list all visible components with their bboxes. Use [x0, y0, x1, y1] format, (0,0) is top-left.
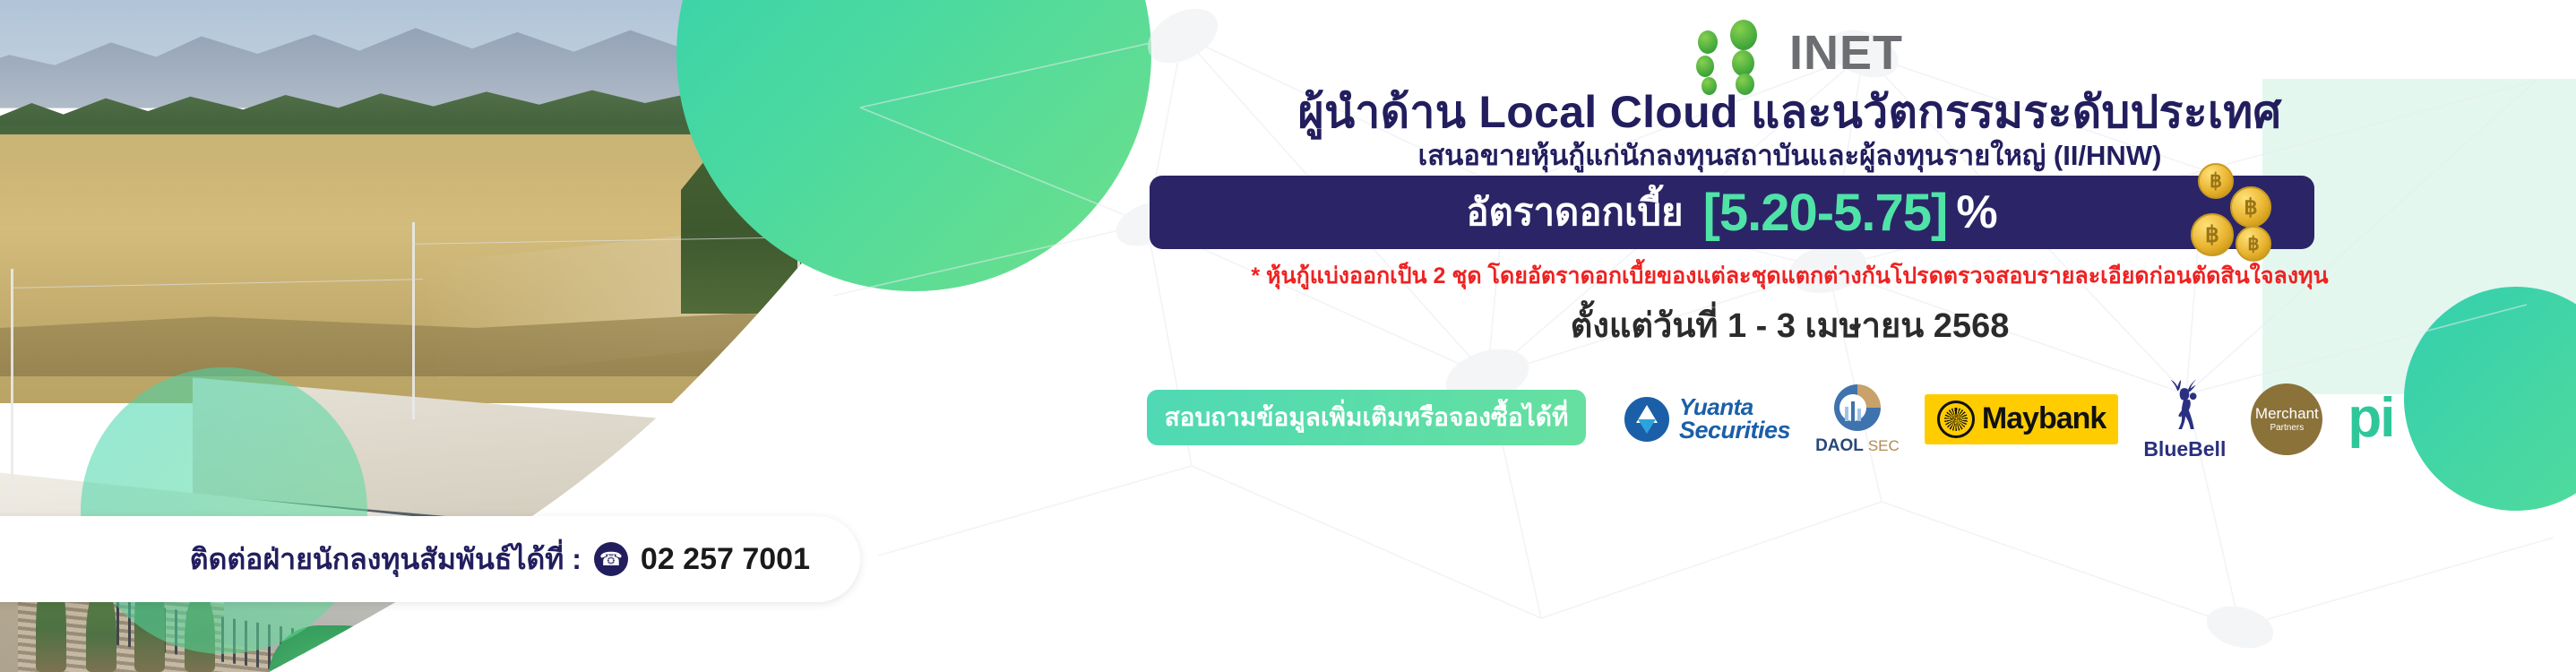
- daol-pie-icon: [1831, 382, 1883, 434]
- broker-logos: Yuanta Securities: [1622, 376, 2572, 461]
- enquiry-cta-button[interactable]: สอบถามข้อมูลเพิ่มเติมหรือจองซื้อได้ที่: [1147, 390, 1586, 445]
- maybank-wordmark: Maybank: [1982, 401, 2106, 436]
- percent-sign: %: [1956, 185, 1997, 239]
- inet-dot: [1730, 20, 1757, 50]
- green-circle-left: [81, 367, 367, 654]
- merchant-line1: Merchant: [2255, 405, 2319, 423]
- yuanta-line2: Securities: [1679, 418, 1790, 443]
- coin: ฿: [2236, 226, 2271, 262]
- coin: ฿: [2198, 163, 2234, 199]
- investor-relations-contact: ติดต่อฝ่ายนักลงทุนสัมพันธ์ได้ที่ : ☎ 02 …: [0, 516, 860, 602]
- broker-logo-daol[interactable]: DAOL SEC: [1815, 382, 1900, 456]
- inet-logo: INET: [1689, 16, 1958, 81]
- pi-wordmark: pi: [2348, 395, 2393, 443]
- merchant-line2: Partners: [2270, 423, 2304, 433]
- interest-rate-box: อัตราดอกเบี้ย [5.20-5.75] % ฿ ฿ ฿ ฿: [1150, 176, 2314, 249]
- offer-dateline: ตั้งแต่วันที่ 1 - 3 เมษายน 2568: [1004, 297, 2576, 352]
- maybank-tiger-icon: [1937, 401, 1975, 438]
- coin: ฿: [2230, 186, 2271, 228]
- interest-rate-value: [5.20-5.75]: [1703, 183, 1948, 243]
- inet-dot: [1696, 56, 1714, 77]
- broker-logo-merchant[interactable]: Merchant Partners: [2251, 383, 2322, 455]
- yuanta-line1: Yuanta: [1679, 395, 1790, 418]
- daol-line2: SEC: [1868, 437, 1900, 454]
- broker-logo-bluebell[interactable]: BlueBell: [2143, 377, 2226, 461]
- inet-dot: [1732, 50, 1754, 76]
- interest-rate-label: อัตราดอกเบี้ย: [1466, 183, 1683, 242]
- disclaimer-text: * หุ้นกู้แบ่งออกเป็น 2 ชุด โดยอัตราดอกเบ…: [1004, 258, 2576, 294]
- content-column: INET ผู้นำด้าน Local Cloud และนวัตกรรมระ…: [1004, 0, 2576, 672]
- page-subtitle: เสนอขายหุ้นกู้แก่นักลงทุนสถาบันและผู้ลงท…: [1004, 133, 2576, 177]
- yuanta-star-icon: [1622, 394, 1672, 444]
- inet-dot: [1698, 30, 1718, 54]
- promotional-banner: INET ผู้นำด้าน Local Cloud และนวัตกรรมระ…: [0, 0, 2576, 672]
- bluebell-wordmark: BlueBell: [2143, 437, 2226, 461]
- merchant-circle-icon: Merchant Partners: [2251, 383, 2322, 455]
- contact-phone-number[interactable]: 02 257 7001: [641, 542, 810, 577]
- gold-coins-icon: ฿ ฿ ฿ ฿: [2182, 161, 2298, 267]
- daol-line1: DAOL: [1815, 436, 1863, 455]
- phone-icon: ☎: [594, 542, 628, 576]
- broker-logo-maybank[interactable]: Maybank: [1925, 394, 2119, 444]
- broker-logo-pi[interactable]: pi: [2348, 395, 2393, 443]
- bluebell-deer-icon: [2143, 377, 2226, 435]
- coin: ฿: [2191, 213, 2234, 256]
- contact-label: ติดต่อฝ่ายนักลงทุนสัมพันธ์ได้ที่ :: [190, 537, 582, 582]
- broker-logo-yuanta[interactable]: Yuanta Securities: [1622, 394, 1790, 444]
- inet-logo-text: INET: [1789, 25, 1903, 81]
